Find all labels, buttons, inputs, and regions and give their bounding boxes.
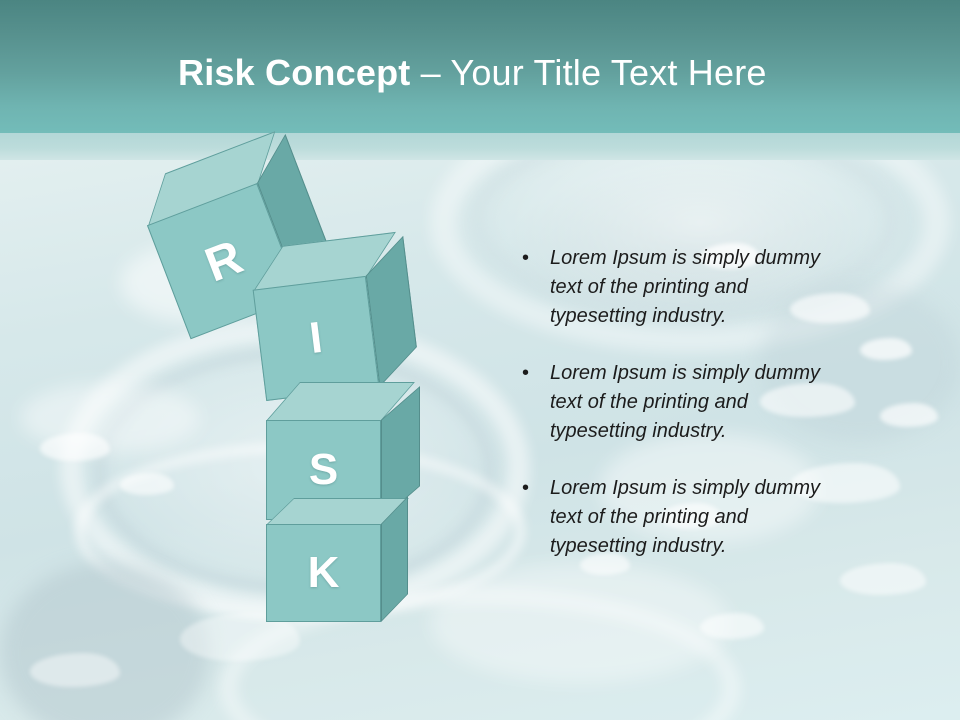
list-item: • Lorem Ipsum is simply dummy text of th… [516, 474, 846, 561]
page-title-rest: – Your Title Text Here [410, 52, 766, 93]
water-droplet [860, 338, 912, 360]
water-shadow [0, 563, 210, 720]
bullet-text: Lorem Ipsum is simply dummy text of the … [550, 474, 846, 561]
slide-header-accent-strip [0, 133, 960, 160]
water-highlight [20, 383, 200, 453]
bullet-point-icon: • [516, 244, 550, 331]
list-item: • Lorem Ipsum is simply dummy text of th… [516, 244, 846, 331]
water-droplet [30, 653, 120, 687]
risk-cube-k: K [262, 498, 422, 626]
risk-cube-i: I [244, 230, 425, 394]
page-title: Risk Concept – Your Title Text Here [178, 52, 767, 94]
water-droplet [840, 563, 926, 595]
cube-letter-k: K [266, 524, 381, 622]
bullet-text: Lorem Ipsum is simply dummy text of the … [550, 244, 846, 331]
water-droplet [880, 403, 938, 427]
slide-canvas: Risk Concept – Your Title Text Here R I … [0, 0, 960, 720]
bullet-text: Lorem Ipsum is simply dummy text of the … [550, 359, 846, 446]
bullet-point-icon: • [516, 359, 550, 446]
water-droplet [700, 613, 764, 639]
water-droplet [120, 473, 174, 495]
page-title-bold: Risk Concept [178, 52, 410, 93]
water-droplet [40, 433, 110, 461]
bullet-point-icon: • [516, 474, 550, 561]
body-text-placeholder[interactable]: • Lorem Ipsum is simply dummy text of th… [516, 244, 846, 589]
list-item: • Lorem Ipsum is simply dummy text of th… [516, 359, 846, 446]
